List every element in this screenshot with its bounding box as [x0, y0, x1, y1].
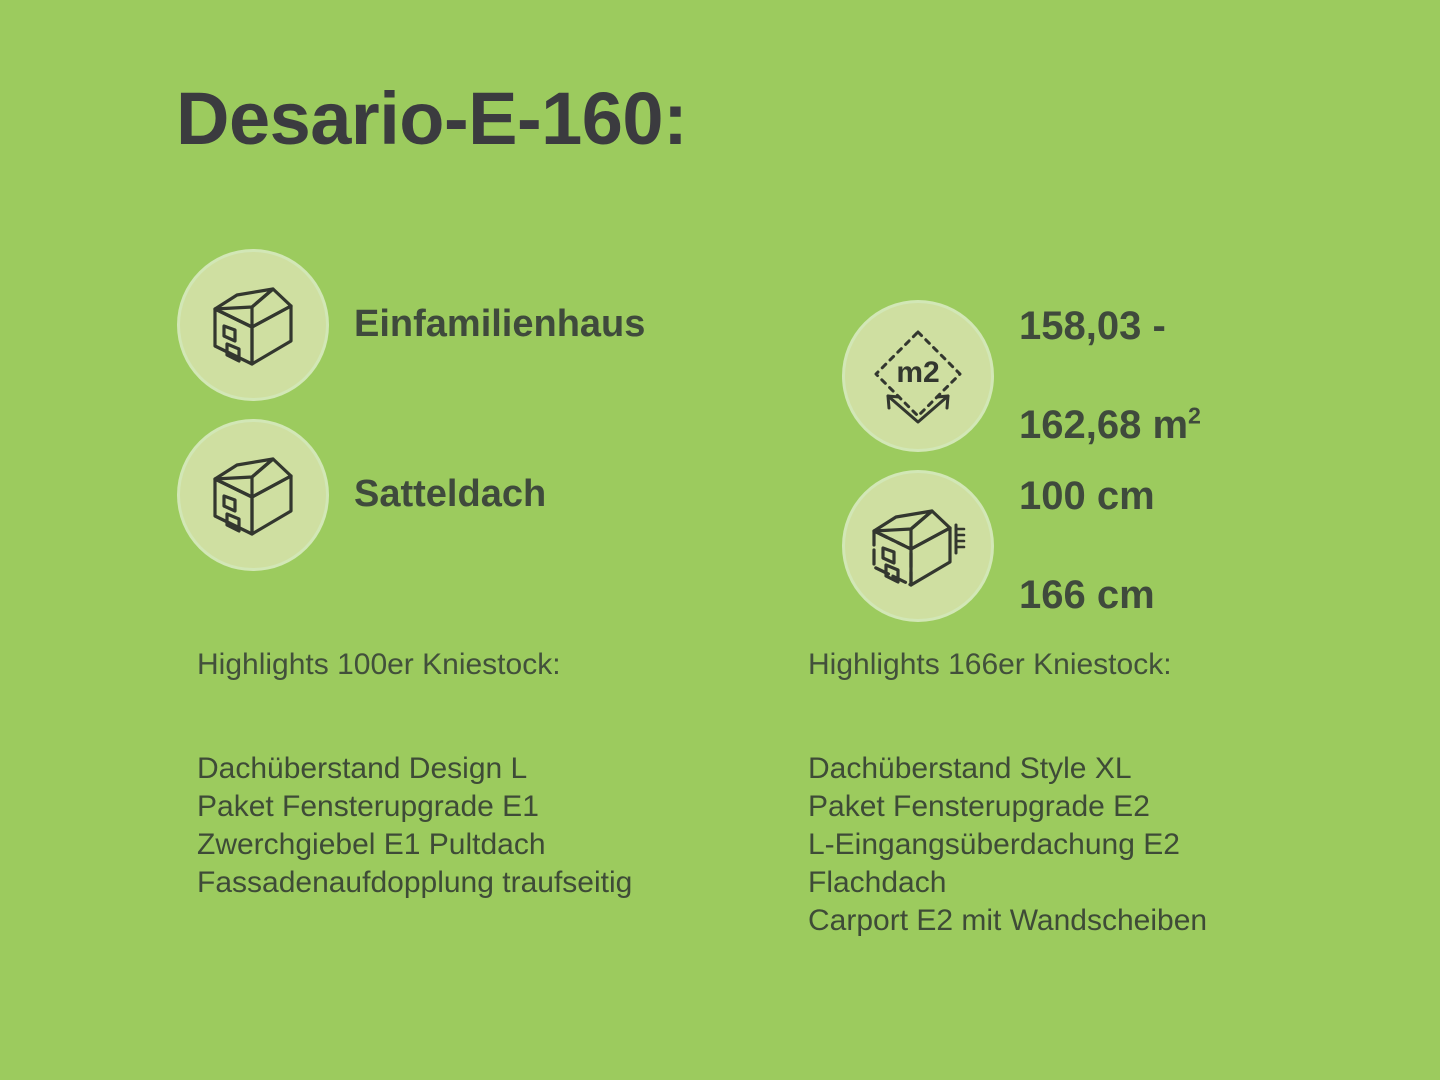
highlight-item: Zwerchgiebel E1 Pultdach [197, 826, 797, 864]
highlight-item: L-Eingangsüberdachung E2 [808, 826, 1408, 864]
highlight-item: Paket Fensterupgrade E2 [808, 788, 1408, 826]
feature-roof-type: Satteldach [180, 422, 546, 568]
highlights-column-100er: Highlights 100er Kniestock: Dachüberstan… [197, 650, 797, 902]
highlight-item: Fassadenaufdopplung traufseitig [197, 864, 797, 902]
highlight-item: Flachdach [808, 864, 1408, 902]
highlight-item: Dachüberstand Style XL [808, 750, 1408, 788]
knee-wall-line-2: 166 cm [1019, 571, 1155, 621]
highlights-column-166er: Highlights 166er Kniestock: Dachüberstan… [808, 650, 1408, 940]
highlights-heading-100er: Highlights 100er Kniestock: [197, 650, 797, 680]
roof-icon-badge [180, 422, 326, 568]
feature-house-type: Einfamilienhaus [180, 252, 645, 398]
area-icon-label: m2 [896, 356, 939, 390]
living-area-line-1: 158,03 - [1019, 302, 1201, 352]
infographic-page: Desario-E-160: [0, 0, 1440, 1080]
house-height-ruler-icon [866, 503, 970, 589]
page-title: Desario-E-160: [176, 82, 687, 156]
knee-wall-line-1: 100 cm [1019, 472, 1155, 522]
highlights-heading-166er: Highlights 166er Kniestock: [808, 650, 1408, 680]
highlight-item: Paket Fensterupgrade E1 [197, 788, 797, 826]
feature-grid: Einfamilienhaus m2 [0, 252, 1440, 562]
feature-knee-wall-height: 100 cm 166 cm [845, 422, 1155, 670]
superscript-two: 2 [1188, 402, 1201, 428]
feature-label-knee-wall-height: 100 cm 166 cm [1019, 422, 1155, 670]
highlight-item: Carport E2 mit Wandscheiben [808, 902, 1408, 940]
gable-roof-house-icon [207, 453, 299, 537]
highlight-item: Dachüberstand Design L [197, 750, 797, 788]
feature-label-roof-type: Satteldach [354, 471, 546, 518]
feature-label-house-type: Einfamilienhaus [354, 301, 645, 348]
house-icon [207, 283, 299, 367]
house-icon-badge [180, 252, 326, 398]
height-icon-badge [845, 473, 991, 619]
